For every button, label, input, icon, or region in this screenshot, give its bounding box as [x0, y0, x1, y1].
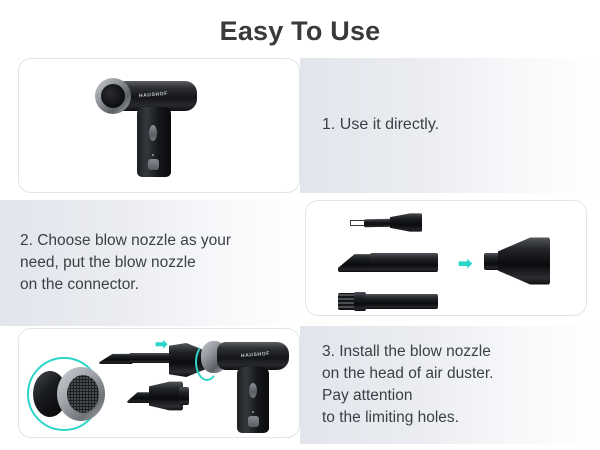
step-2-image-panel: ➡: [305, 200, 587, 316]
slot-nozzle-body-icon: [370, 253, 438, 272]
step-1-text-panel: 1. Use it directly.: [300, 58, 600, 193]
step-2-text: 2. Choose blow nozzle as your need, put …: [0, 230, 231, 296]
power-button-icon: [249, 383, 257, 398]
flat-nozzle-body-icon: [390, 213, 422, 232]
mode-button-icon: [148, 159, 159, 170]
page-title: Easy To Use: [0, 16, 600, 47]
instruction-sheet: Easy To Use HAUSHOF 1. Use it directly. …: [0, 0, 600, 450]
connector-cone-icon: [498, 237, 550, 285]
step-2-line-1: 2. Choose blow nozzle as your: [20, 230, 231, 252]
step-2-line-3: on the connector.: [20, 274, 231, 296]
nozzles-illustration: ➡: [306, 201, 586, 315]
step-1-text: 1. Use it directly.: [300, 114, 439, 137]
power-button-icon: [149, 125, 157, 141]
nozzle-installation-illustration: ➡ HAUSHOF: [19, 329, 299, 437]
slot-nozzle-tip-icon: [338, 253, 374, 272]
mode-button-icon: [248, 416, 259, 427]
duster-nozzle-bore-icon: [101, 84, 125, 108]
spare-nozzle-cone-icon: [149, 381, 183, 411]
step-2-line-2: need, put the blow nozzle: [20, 252, 231, 274]
step-3-line-1: 3. Install the blow nozzle: [322, 341, 493, 363]
step-3-image-panel: ➡ HAUSHOF: [18, 328, 300, 438]
attached-nozzle-tip-icon: [99, 353, 133, 364]
air-duster-illustration: HAUSHOF: [19, 59, 299, 192]
limiting-holes-mesh-icon: [67, 375, 99, 413]
arrow-right-icon: ➡: [458, 255, 472, 272]
flat-nozzle-neck-icon: [364, 219, 392, 227]
step-3-line-2: on the head of air duster.: [322, 363, 493, 385]
indicator-dot-icon: [252, 411, 254, 413]
step-3-line-3: Pay attention: [322, 385, 493, 407]
step-1-image-panel: HAUSHOF: [18, 58, 300, 193]
step-3-text: 3. Install the blow nozzle on the head o…: [300, 341, 493, 429]
install-arrow-icon: ➡: [155, 337, 168, 352]
step-3-text-panel: 3. Install the blow nozzle on the head o…: [300, 326, 600, 444]
step-3-line-4: to the limiting holes.: [322, 407, 493, 429]
indicator-dot-icon: [152, 154, 154, 156]
brush-nozzle-body-icon: [365, 294, 438, 309]
step-2-text-panel: 2. Choose blow nozzle as your need, put …: [0, 200, 305, 326]
connector-collar-icon: [484, 253, 500, 270]
spare-nozzle-collar-icon: [179, 387, 189, 405]
